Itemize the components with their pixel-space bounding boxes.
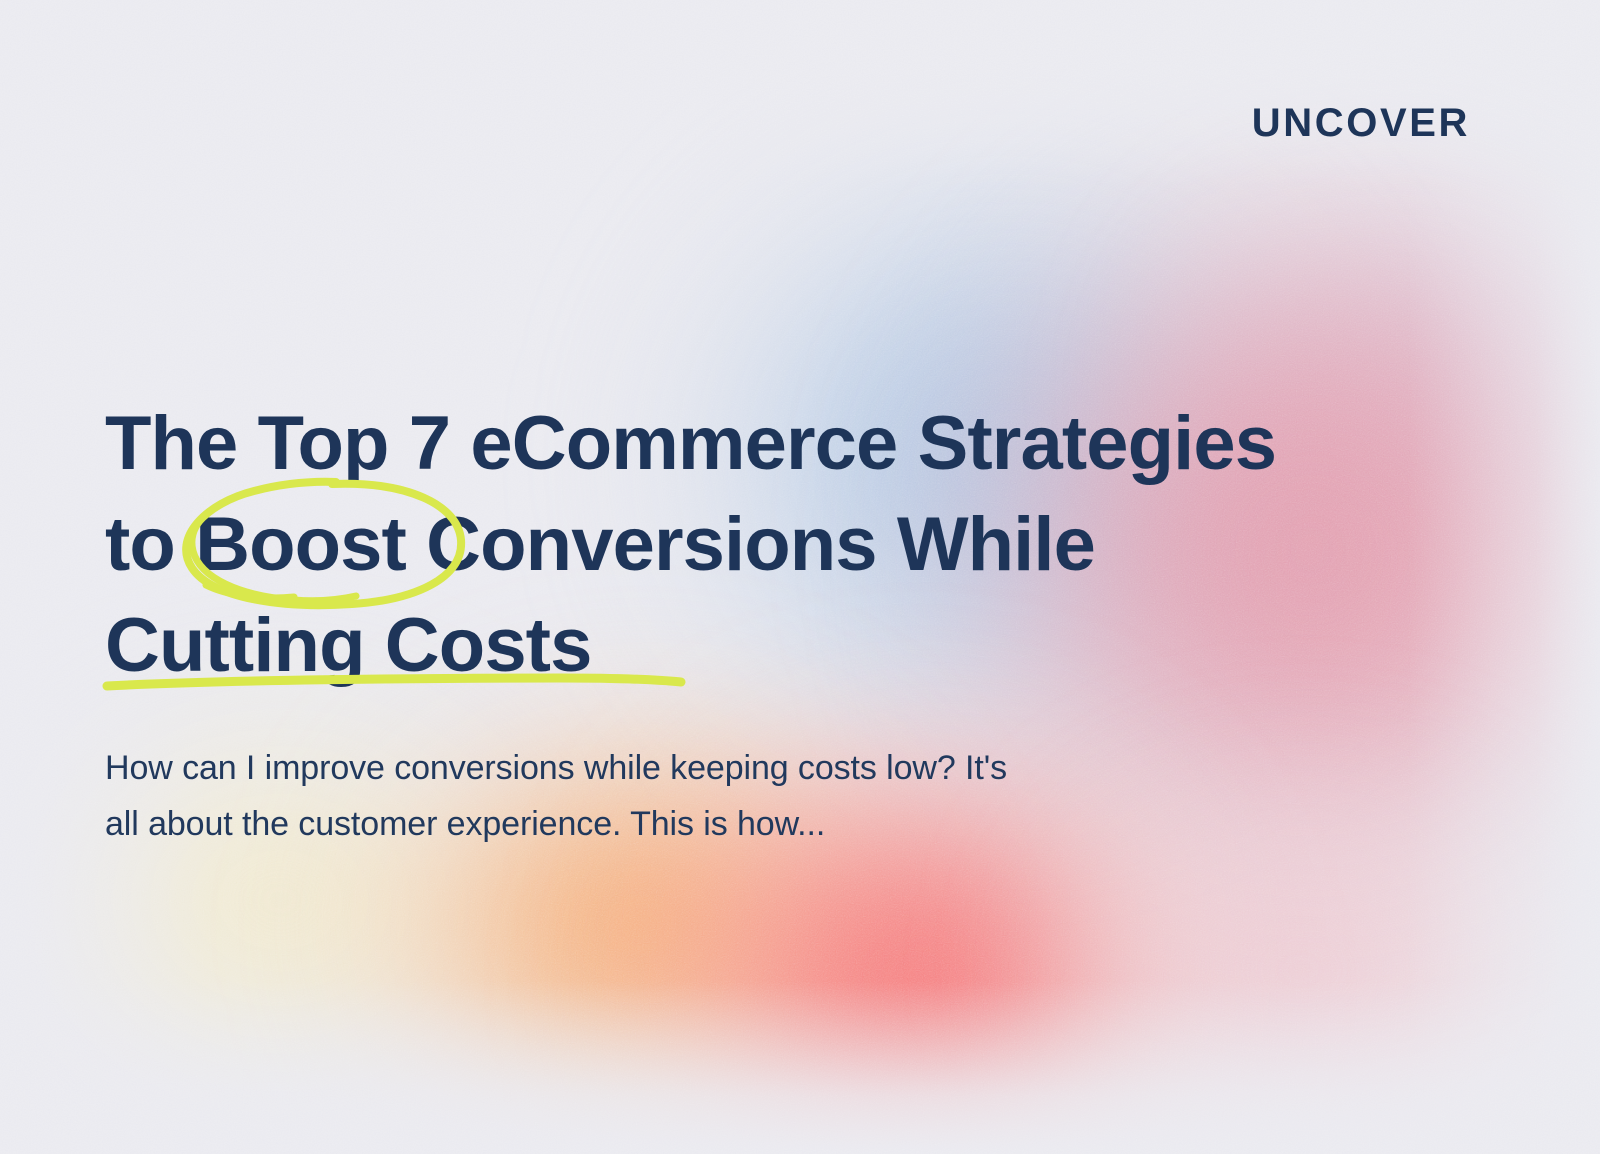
- subhead-line-1: How can I improve conversions while keep…: [105, 740, 1485, 796]
- brand-logo-uncover: UNCOVER: [1252, 103, 1470, 143]
- page-title: The Top 7 eCommerce Strategies to Boost …: [105, 393, 1505, 696]
- blog-cover-poster: UNCOVER The Top 7 eCommerce Strategies t…: [0, 0, 1600, 1154]
- page-subtitle: How can I improve conversions while keep…: [105, 740, 1485, 852]
- headline-line-1: The Top 7 eCommerce Strategies: [105, 393, 1505, 494]
- headline-line-3: Cutting Costs: [105, 595, 1505, 696]
- headline-line-2: to Boost Conversions While: [105, 494, 1505, 595]
- subhead-line-2: all about the customer experience. This …: [105, 796, 1485, 852]
